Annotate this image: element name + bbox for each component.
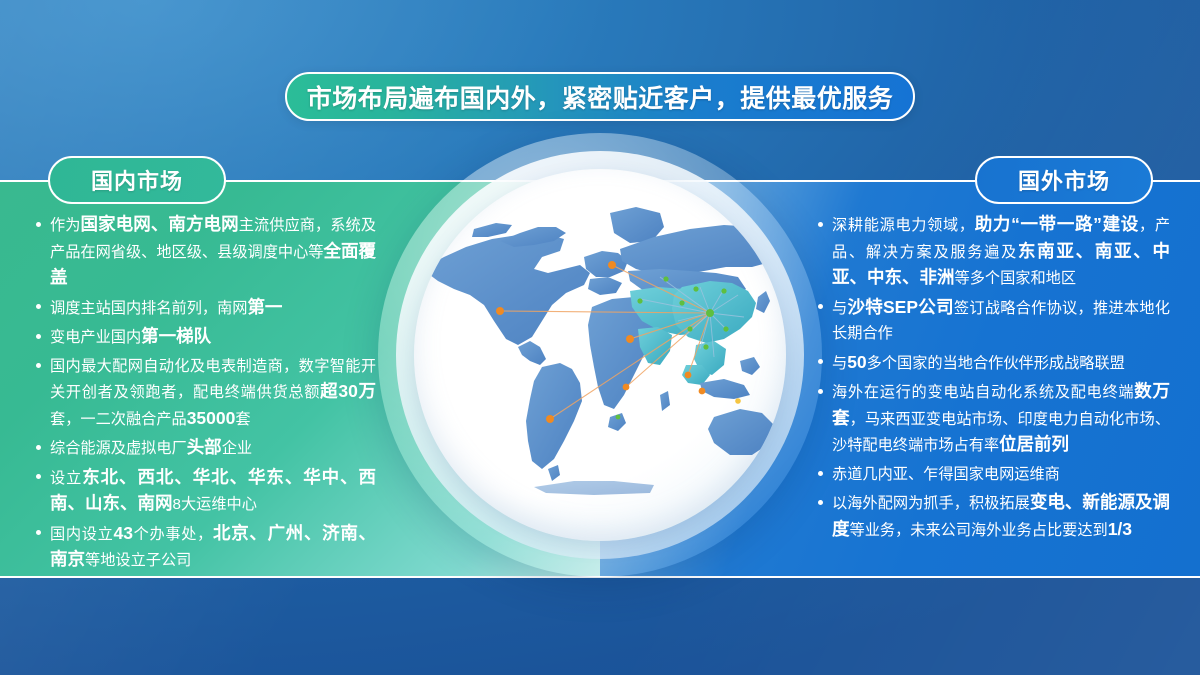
page-title: 市场布局遍布国内外，紧密贴近客户，提供最优服务 — [307, 79, 894, 115]
bullet-item: 综合能源及虚拟电厂头部企业 — [36, 435, 376, 462]
domestic-market-heading-pill: 国内市场 — [48, 156, 226, 204]
slide-root: 市场布局遍布国内外，紧密贴近客户，提供最优服务 — [0, 0, 1200, 675]
overseas-market-bullet-list: 深耕能源电力领域，助力“一带一路”建设，产品、解决方案及服务遍及东南亚、南亚、中… — [818, 212, 1170, 546]
bullet-item: 国内设立43个办事处，北京、广州、济南、南京等地设立子公司 — [36, 521, 376, 574]
bullet-item: 海外在运行的变电站自动化系统及配电终端数万套，马来西亚变电站市场、印度电力自动化… — [818, 379, 1170, 459]
bullet-item: 设立东北、西北、华北、华东、华中、西南、山东、南网8大运维中心 — [36, 465, 376, 518]
overseas-market-heading: 国外市场 — [1018, 164, 1110, 196]
bullet-item: 以海外配网为抓手，积极拓展变电、新能源及调度等业务，未来公司海外业务占比要达到1… — [818, 490, 1170, 543]
bullet-item: 国内最大配网自动化及电表制造商，数字智能开关开创者及领跑者，配电终端供货总额超3… — [36, 354, 376, 433]
domestic-market-heading: 国内市场 — [91, 164, 183, 196]
bullet-item: 赤道几内亚、乍得国家电网运维商 — [818, 462, 1170, 488]
slide-title-pill: 市场布局遍布国内外，紧密贴近客户，提供最优服务 — [285, 72, 915, 121]
overseas-market-heading-pill: 国外市场 — [975, 156, 1153, 204]
domestic-market-bullet-list: 作为国家电网、南方电网主流供应商，系统及产品在网省级、地区级、县级调度中心等全面… — [36, 212, 376, 577]
bullet-item: 与50多个国家的当地合作伙伴形成战略联盟 — [818, 350, 1170, 377]
bullet-item: 作为国家电网、南方电网主流供应商，系统及产品在网省级、地区级、县级调度中心等全面… — [36, 212, 376, 292]
bullet-item: 变电产业国内第一梯队 — [36, 324, 376, 351]
bullet-item: 与沙特SEP公司签订战略合作协议，推进本地化长期合作 — [818, 295, 1170, 347]
bullet-item: 深耕能源电力领域，助力“一带一路”建设，产品、解决方案及服务遍及东南亚、南亚、中… — [818, 212, 1170, 292]
bullet-item: 调度主站国内排名前列，南网第一 — [36, 295, 376, 322]
